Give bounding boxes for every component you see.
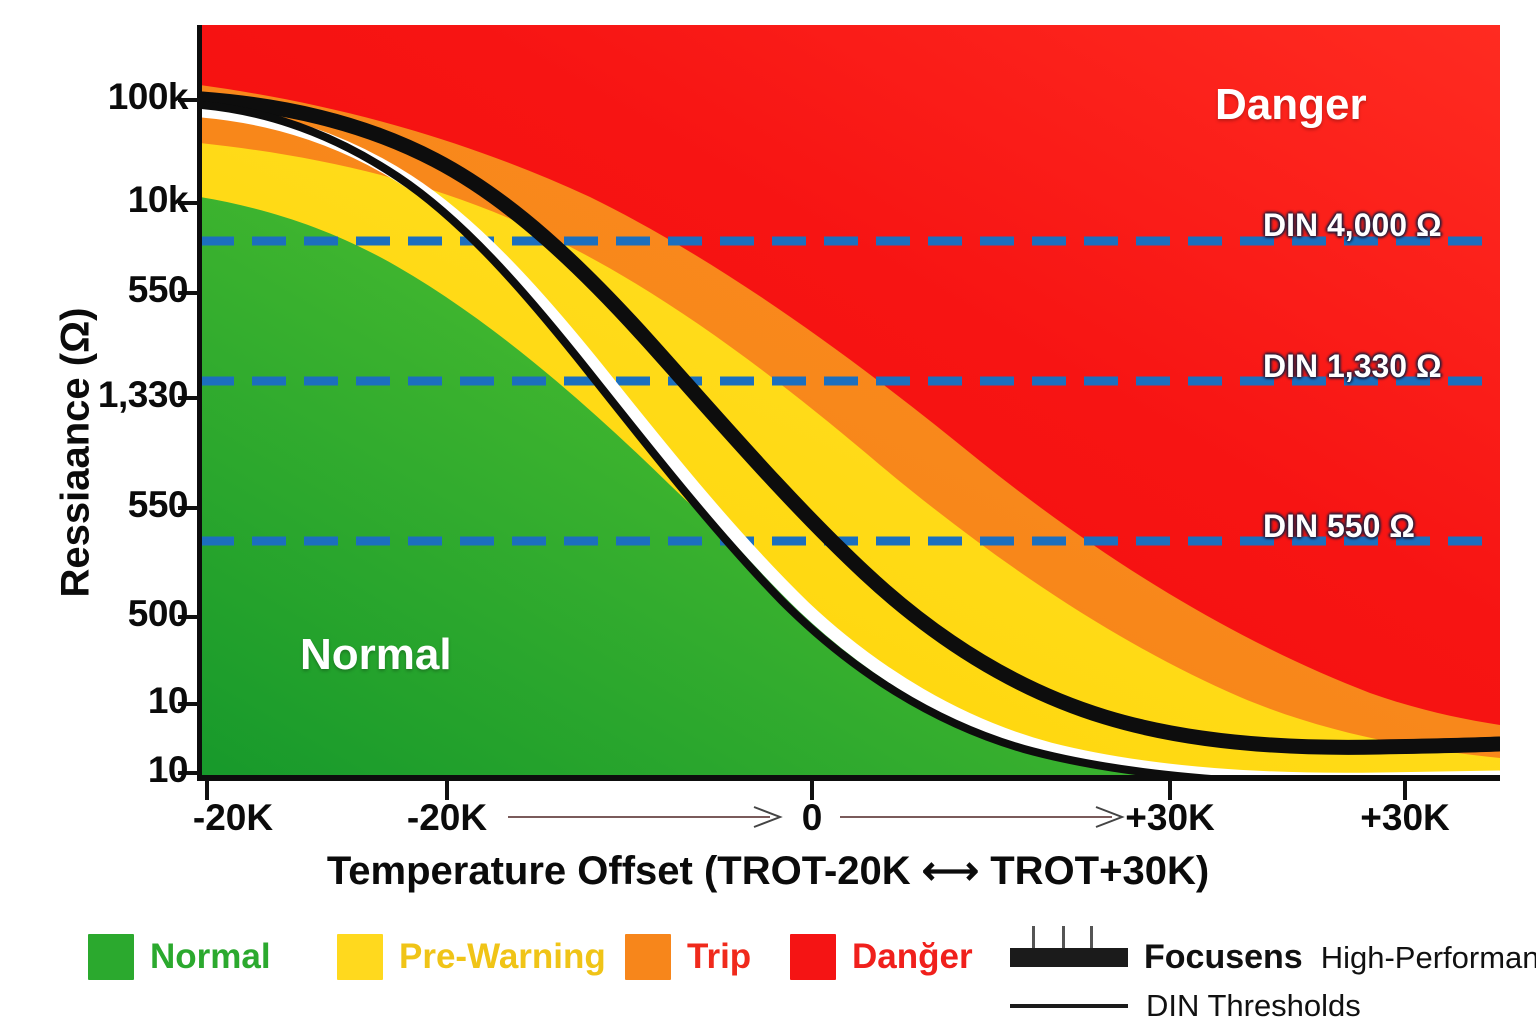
zone-label-normal: Normal bbox=[300, 630, 452, 680]
legend-item-danger[interactable]: Danğer bbox=[790, 934, 973, 980]
din-label-4000: DIN 4,000 Ω bbox=[1263, 207, 1442, 244]
legend-swatch-pre-warning-icon bbox=[337, 934, 383, 980]
legend-thin-line-icon bbox=[1010, 1004, 1128, 1008]
legend-item-normal[interactable]: Normal bbox=[88, 934, 271, 980]
legend-item-trip[interactable]: Trip bbox=[625, 934, 751, 980]
x-tick-label: +30K bbox=[1125, 797, 1214, 839]
y-tick-label: 10 bbox=[148, 749, 188, 791]
chart-legend: Normal Pre-Warning Trip Danğer Focusens … bbox=[0, 926, 1536, 1024]
legend-tick-icon bbox=[1062, 926, 1065, 948]
y-axis-spine bbox=[197, 25, 202, 777]
y-tick-label: 550 bbox=[128, 484, 188, 526]
legend-item-din-thresholds[interactable]: DIN Thresholds bbox=[1010, 988, 1361, 1024]
y-tick-label: 550 bbox=[128, 269, 188, 311]
y-tick-label: 10 bbox=[148, 680, 188, 722]
x-tick-label: -20K bbox=[193, 797, 273, 839]
x-tick-label: -20K bbox=[407, 797, 487, 839]
y-tick-label: 10k bbox=[128, 179, 188, 221]
legend-thick-line-icon bbox=[1010, 948, 1128, 967]
legend-label-normal: Normal bbox=[150, 937, 271, 977]
y-tick-label: 100k bbox=[108, 76, 188, 118]
y-tick-label: 500 bbox=[128, 593, 188, 635]
legend-label-focusens-sub: High-Performance bbox=[1321, 940, 1536, 976]
x-tick-label: +30K bbox=[1360, 797, 1449, 839]
legend-swatch-trip-icon bbox=[625, 934, 671, 980]
legend-item-pre-warning[interactable]: Pre-Warning bbox=[337, 934, 606, 980]
legend-swatch-danger-icon bbox=[790, 934, 836, 980]
x-axis-title: Temperature Offset (TROT-20K ⟷ TROT+30K) bbox=[0, 848, 1536, 894]
legend-label-din-thresholds: DIN Thresholds bbox=[1146, 988, 1361, 1024]
legend-label-trip: Trip bbox=[687, 937, 751, 977]
y-axis-title: Ressiaance (Ω) bbox=[54, 303, 99, 603]
legend-label-pre-warning: Pre-Warning bbox=[399, 937, 606, 977]
legend-label-focusens: Focusens bbox=[1144, 938, 1303, 977]
plot-area: Danger Normal DIN 4,000 Ω DIN 1,330 Ω DI… bbox=[200, 25, 1500, 777]
legend-swatch-normal-icon bbox=[88, 934, 134, 980]
x-axis-spine bbox=[197, 775, 1500, 781]
chart-figure: Danger Normal DIN 4,000 Ω DIN 1,330 Ω DI… bbox=[0, 0, 1536, 1024]
x-axis-right-arrow-icon bbox=[840, 805, 1130, 829]
din-label-1330: DIN 1,330 Ω bbox=[1263, 348, 1442, 385]
x-tick-label: 0 bbox=[802, 797, 823, 839]
zone-label-danger: Danger bbox=[1215, 80, 1367, 130]
legend-item-focusens[interactable]: Focusens High-Performance bbox=[1010, 938, 1536, 977]
din-label-550: DIN 550 Ω bbox=[1263, 508, 1415, 545]
legend-label-danger: Danğer bbox=[852, 937, 973, 977]
x-axis-right-arrow-icon bbox=[508, 805, 788, 829]
y-tick-label: 1,330 bbox=[98, 374, 188, 416]
